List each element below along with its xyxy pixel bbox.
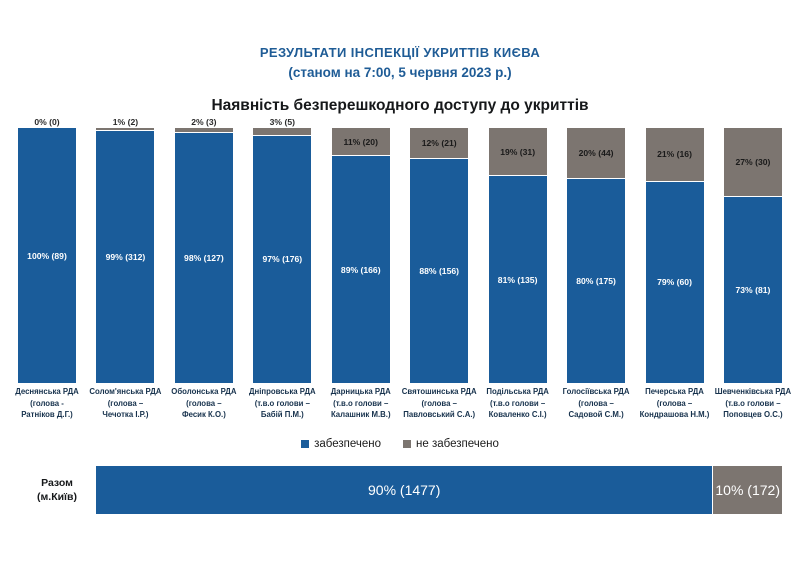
bar-column[interactable]: 11% (20)89% (166) xyxy=(332,128,390,383)
bar-column[interactable]: 2% (3)98% (127) xyxy=(175,128,233,383)
bar-segment-provided: 80% (175) xyxy=(567,179,625,383)
report-title: РЕЗУЛЬТАТИ ІНСПЕКЦІЇ УКРИТТІВ КИЄВА xyxy=(0,44,800,62)
chart-page: РЕЗУЛЬТАТИ ІНСПЕКЦІЇ УКРИТТІВ КИЄВА (ста… xyxy=(0,0,800,565)
bar-segment-provided: 99% (312) xyxy=(96,131,154,383)
bar-segment-provided: 89% (166) xyxy=(332,156,390,383)
bar-label-not-provided: 3% (5) xyxy=(270,117,295,127)
x-axis-label-line: Дніпровська РДА xyxy=(239,386,325,398)
bar-label-not-provided: 2% (3) xyxy=(191,117,216,127)
total-row-label: Разом (м.Київ) xyxy=(18,466,96,514)
x-axis-label-line: Солом'янська РДА xyxy=(82,386,168,398)
bar-column[interactable]: 21% (16)79% (60) xyxy=(646,128,704,383)
bar-segment-not-provided: 12% (21) xyxy=(410,128,468,159)
total-label-line1: Разом xyxy=(41,476,73,490)
x-axis-label-line: Печерська РДА xyxy=(632,386,718,398)
bar-segment-not-provided: 11% (20) xyxy=(332,128,390,156)
bar-segment-provided: 100% (89) xyxy=(18,128,76,383)
x-axis-label-line: (голова – xyxy=(161,398,247,410)
total-segment-provided: 90% (1477) xyxy=(96,466,713,514)
x-axis-label-line: Чечотка І.Р.) xyxy=(82,409,168,421)
bar-label-not-provided: 1% (2) xyxy=(113,117,138,127)
x-axis-label: Печерська РДА(голова –Кондрашова Н.М.) xyxy=(632,386,718,421)
bar-column[interactable]: 20% (44)80% (175) xyxy=(567,128,625,383)
bar-segment-provided: 97% (176) xyxy=(253,136,311,383)
x-axis-label-line: Бабій П.М.) xyxy=(239,409,325,421)
chart-heading: Наявність безперешкодного доступу до укр… xyxy=(0,96,800,116)
x-axis-label: Подільська РДА(т.в.о голови –Коваленко С… xyxy=(475,386,561,421)
bar-segment-not-provided: 27% (30) xyxy=(724,128,782,197)
legend-swatch-grey-icon xyxy=(403,440,411,448)
bar-segment-not-provided: 21% (16) xyxy=(646,128,704,182)
x-axis-label-line: Поповцев О.С.) xyxy=(710,409,796,421)
bar-column[interactable]: 3% (5)97% (176) xyxy=(253,128,311,383)
x-axis-label-line: (голова - xyxy=(4,398,90,410)
x-axis-label-line: (голова – xyxy=(553,398,639,410)
bar-segment-not-provided: 3% (5) xyxy=(253,128,311,136)
bar-segment-provided: 98% (127) xyxy=(175,133,233,383)
x-axis-label-line: Калашник М.В.) xyxy=(318,409,404,421)
x-axis-label-line: Фесик К.О.) xyxy=(161,409,247,421)
x-axis-label-line: (т.в.о голови – xyxy=(318,398,404,410)
x-axis-label: Дарницька РДА(т.в.о голови –Калашник М.В… xyxy=(318,386,404,421)
x-axis-label-line: Дарницька РДА xyxy=(318,386,404,398)
x-axis-label: Дніпровська РДА(т.в.о голови –Бабій П.М.… xyxy=(239,386,325,421)
bar-segment-not-provided: 20% (44) xyxy=(567,128,625,179)
bar-column[interactable]: 12% (21)88% (156) xyxy=(410,128,468,383)
bar-column[interactable]: 27% (30)73% (81) xyxy=(724,128,782,383)
total-segment-not-provided: 10% (172) xyxy=(713,466,782,514)
x-axis-label: Голосіївська РДА(голова –Садовой С.М.) xyxy=(553,386,639,421)
title-block: РЕЗУЛЬТАТИ ІНСПЕКЦІЇ УКРИТТІВ КИЄВА (ста… xyxy=(0,0,800,116)
x-axis-label-line: (т.в.о голови – xyxy=(239,398,325,410)
x-axis-label: Шевченківська РДА(т.в.о голови –Поповцев… xyxy=(710,386,796,421)
total-row: Разом (м.Київ) 90% (1477) 10% (172) xyxy=(18,466,782,514)
bar-segment-provided: 81% (135) xyxy=(489,176,547,383)
x-axis-label: Деснянська РДА(голова -Ратніков Д.Г.) xyxy=(4,386,90,421)
x-axis-label-line: (голова – xyxy=(632,398,718,410)
bar-label-not-provided: 0% (0) xyxy=(34,117,59,127)
legend-label-provided: забезпечено xyxy=(314,438,381,450)
legend-swatch-blue-icon xyxy=(301,440,309,448)
bar-chart-plot: 0% (0)100% (89)1% (2)99% (312)2% (3)98% … xyxy=(18,128,782,383)
bar-column[interactable]: 19% (31)81% (135) xyxy=(489,128,547,383)
bar-segment-provided: 88% (156) xyxy=(410,159,468,383)
report-subtitle: (станом на 7:00, 5 червня 2023 р.) xyxy=(0,63,800,83)
x-axis-label: Святошинська РДА(голова –Павловський С.А… xyxy=(396,386,482,421)
legend-item-not-provided[interactable]: не забезпечено xyxy=(403,438,499,450)
bar-segment-provided: 73% (81) xyxy=(724,197,782,383)
x-axis-label: Солом'янська РДА(голова –Чечотка І.Р.) xyxy=(82,386,168,421)
x-axis-label-line: Шевченківська РДА xyxy=(710,386,796,398)
x-axis-label-line: Подільська РДА xyxy=(475,386,561,398)
x-axis-label-line: Садовой С.М.) xyxy=(553,409,639,421)
chart-legend: забезпечено не забезпечено xyxy=(0,438,800,450)
total-bar: 90% (1477) 10% (172) xyxy=(96,466,782,514)
legend-label-not-provided: не забезпечено xyxy=(416,438,499,450)
x-axis-label-line: Ратніков Д.Г.) xyxy=(4,409,90,421)
x-axis-label-line: Святошинська РДА xyxy=(396,386,482,398)
total-label-line2: (м.Київ) xyxy=(37,490,77,504)
x-axis-label-line: (т.в.о голови – xyxy=(475,398,561,410)
x-axis-label-line: Оболонська РДА xyxy=(161,386,247,398)
bar-column[interactable]: 1% (2)99% (312) xyxy=(96,128,154,383)
x-axis-label-line: Коваленко С.І.) xyxy=(475,409,561,421)
x-axis-label: Оболонська РДА(голова –Фесик К.О.) xyxy=(161,386,247,421)
bar-segment-not-provided: 19% (31) xyxy=(489,128,547,176)
x-axis-label-line: (голова – xyxy=(82,398,168,410)
legend-item-provided[interactable]: забезпечено xyxy=(301,438,381,450)
x-axis-label-line: (т.в.о голови – xyxy=(710,398,796,410)
x-axis-label-line: Голосіївська РДА xyxy=(553,386,639,398)
x-axis-labels: Деснянська РДА(голова -Ратніков Д.Г.)Сол… xyxy=(18,386,782,421)
x-axis-label-line: Кондрашова Н.М.) xyxy=(632,409,718,421)
x-axis-label-line: Деснянська РДА xyxy=(4,386,90,398)
x-axis-label-line: (голова – xyxy=(396,398,482,410)
bar-segment-provided: 79% (60) xyxy=(646,182,704,383)
bar-column[interactable]: 0% (0)100% (89) xyxy=(18,128,76,383)
x-axis-label-line: Павловський С.А.) xyxy=(396,409,482,421)
